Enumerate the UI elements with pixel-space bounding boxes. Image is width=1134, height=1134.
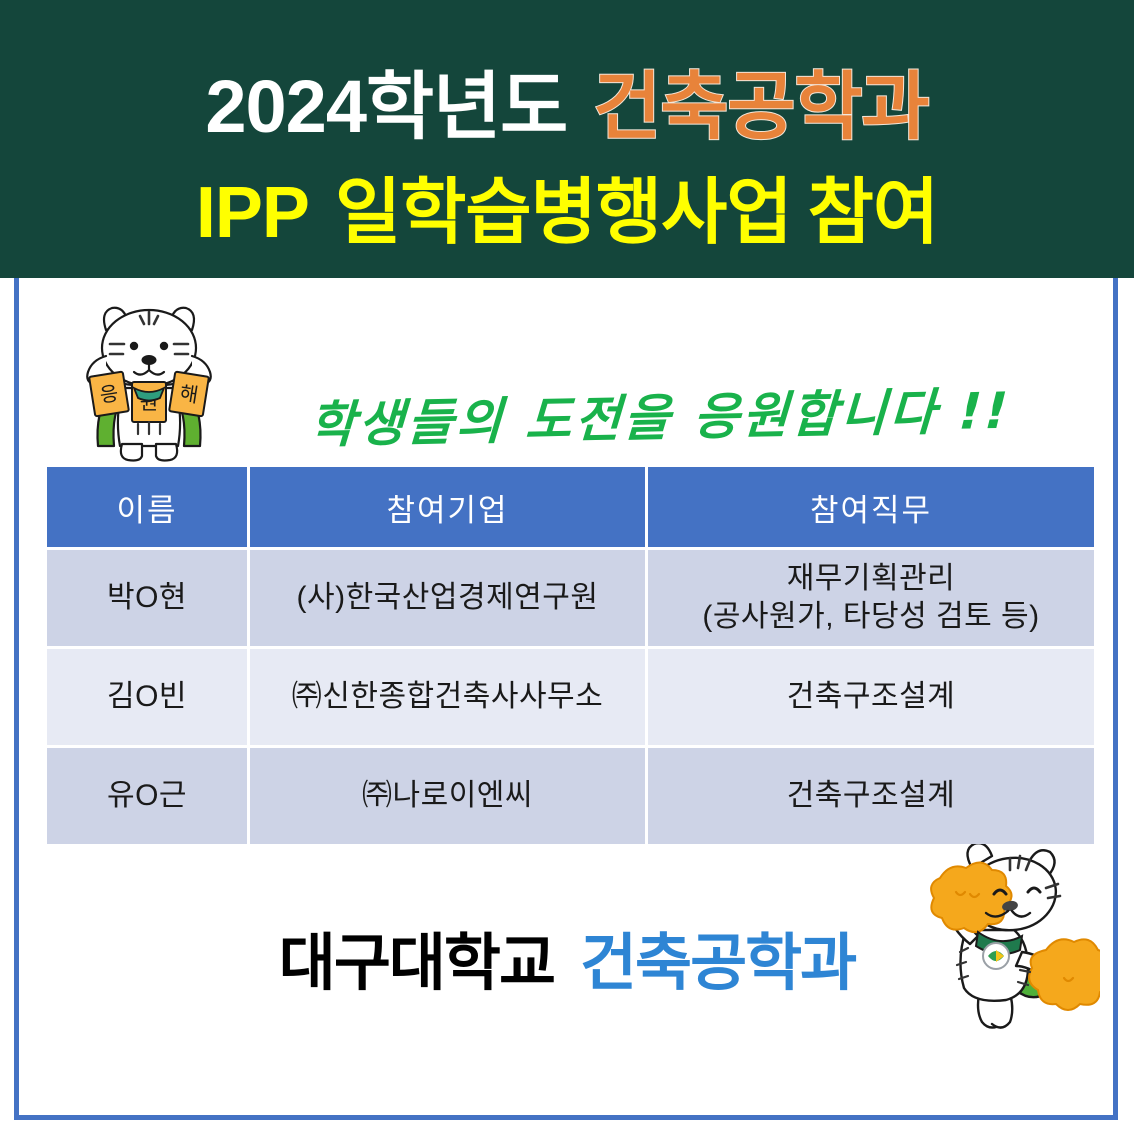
table-row: 김O빈 ㈜신한종합건축사사무소 건축구조설계 bbox=[47, 649, 1094, 745]
header-participation-text: 참여 bbox=[808, 173, 938, 253]
cell-company: ㈜나로이엔씨 bbox=[250, 748, 645, 844]
column-header-company: 참여기업 bbox=[250, 467, 645, 547]
cell-job: 건축구조설계 bbox=[648, 649, 1094, 745]
poster-root: 2024학년도건축공학과 IPP일학습병행사업참여 bbox=[0, 0, 1134, 1134]
cell-job-line-2: (공사원가, 타당성 검토 등) bbox=[652, 598, 1090, 636]
footer-department-name: 건축공학과 bbox=[580, 929, 855, 998]
banner-char-3: 해 bbox=[178, 381, 200, 408]
poster-header: 2024학년도건축공학과 IPP일학습병행사업참여 bbox=[0, 0, 1134, 278]
header-department-text: 건축공학과 bbox=[593, 65, 928, 148]
table-body: 박O현 (사)한국산업경제연구원 재무기획관리 (공사원가, 타당성 검토 등)… bbox=[47, 550, 1094, 844]
banner-char-1: 응 bbox=[98, 381, 120, 408]
participants-table: 이름 참여기업 참여직무 박O현 (사)한국산업경제연구원 재무기획관리 (공사… bbox=[44, 464, 1097, 847]
cheering-tiger-banner-icon: 응 원 해 bbox=[66, 296, 232, 472]
table-header-row: 이름 참여기업 참여직무 bbox=[47, 467, 1094, 547]
footer-logo: 대구대학교건축공학과 bbox=[0, 912, 1134, 1002]
footer-university-name: 대구대학교 bbox=[279, 929, 554, 998]
participants-table-wrapper: 이름 참여기업 참여직무 박O현 (사)한국산업경제연구원 재무기획관리 (공사… bbox=[44, 464, 1091, 847]
header-ipp-text: IPP bbox=[196, 173, 309, 253]
header-program-text: 일학습병행사업 bbox=[335, 173, 792, 253]
cell-job: 건축구조설계 bbox=[648, 748, 1094, 844]
header-title-line-2: IPP일학습병행사업참여 bbox=[0, 168, 1134, 258]
table-head: 이름 참여기업 참여직무 bbox=[47, 467, 1094, 547]
header-year-text: 2024학년도 bbox=[205, 65, 567, 148]
table-row: 유O근 ㈜나로이엔씨 건축구조설계 bbox=[47, 748, 1094, 844]
cell-company: ㈜신한종합건축사사무소 bbox=[250, 649, 645, 745]
cell-name: 박O현 bbox=[47, 550, 247, 646]
cell-job-line-1: 재무기획관리 bbox=[652, 560, 1090, 598]
column-header-job: 참여직무 bbox=[648, 467, 1094, 547]
column-header-name: 이름 bbox=[47, 467, 247, 547]
cell-job: 재무기획관리 (공사원가, 타당성 검토 등) bbox=[648, 550, 1094, 646]
cell-name: 유O근 bbox=[47, 748, 247, 844]
header-title-line-1: 2024학년도건축공학과 bbox=[0, 62, 1134, 152]
cell-company: (사)한국산업경제연구원 bbox=[250, 550, 645, 646]
table-row: 박O현 (사)한국산업경제연구원 재무기획관리 (공사원가, 타당성 검토 등) bbox=[47, 550, 1094, 646]
encouragement-slogan: 학생들의 도전을 응원합니다 !! bbox=[298, 370, 1022, 457]
cell-name: 김O빈 bbox=[47, 649, 247, 745]
